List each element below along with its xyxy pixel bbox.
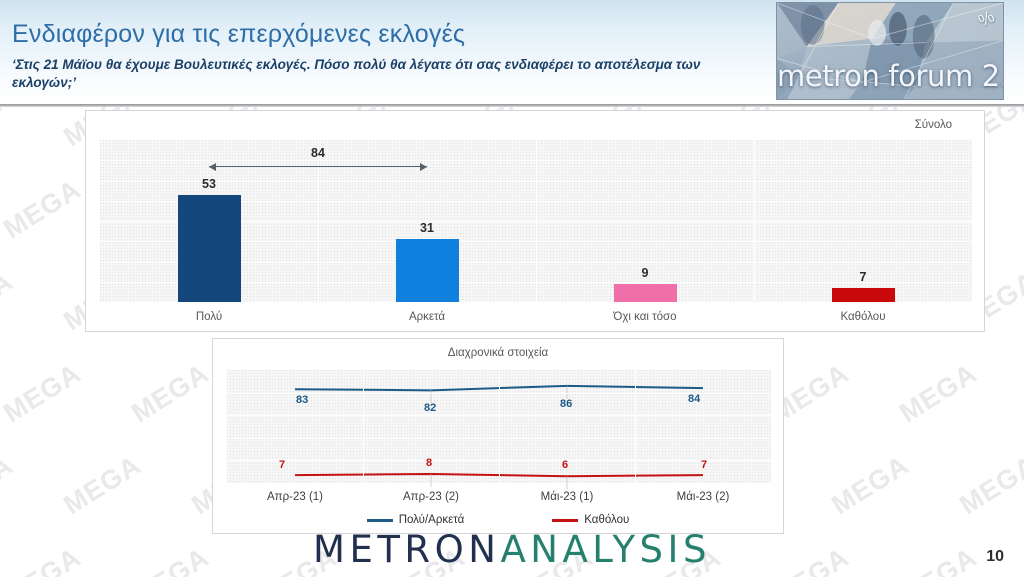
line-category-label: Μάι-23 (1) [497,491,637,503]
logo-analysis-text: ANALYSIS [500,528,711,571]
bar-category-label: Αρκετά [347,311,507,323]
bracket-total-label: 84 [278,146,358,160]
gridline-vertical [635,370,636,483]
question-text: ‘Στις 21 Μάϊου θα έχουμε Βουλευτικές εκλ… [12,56,752,92]
slide-header: Ενδιαφέρον για τις επερχόμενες εκλογές ‘… [0,0,1024,104]
bar-value-label: 7 [823,270,903,284]
bracket-line [209,166,427,167]
bar-chart-title: Σύνολο [915,119,952,131]
line-point-label: 82 [424,402,436,414]
line-point-label: 7 [279,459,285,471]
bar-0 [178,195,241,302]
bar-3 [832,288,895,302]
legend-label: Καθόλου [584,514,629,526]
line-category-label: Απρ-23 (2) [361,491,501,503]
gridline-vertical [536,140,537,302]
page-number: 10 [986,548,1004,566]
legend-label: Πολύ/Αρκετά [399,514,465,526]
watermark-text: MEGA [126,358,215,429]
line-chart-card: Διαχρονικά στοιχεία 838286847867Απρ-23 (… [212,338,784,534]
line-category-label: Απρ-23 (1) [225,491,365,503]
line-point-label: 6 [562,459,568,471]
watermark-text: MEGA [0,358,87,429]
legend-color-swatch [367,519,393,522]
legend-item-1[interactable]: Καθόλου [552,514,629,526]
gridline-vertical [318,140,319,302]
banner-title: metron forum 2.0 [777,59,1003,93]
gridline-vertical [363,370,364,483]
watermark-text: MEGA [826,450,915,521]
watermark-text: MEGA [58,450,147,521]
metron-forum-banner: % metron forum 2.0 [776,2,1004,100]
line-category-label: Μάι-23 (2) [633,491,773,503]
bar-value-label: 31 [387,221,467,235]
legend-item-0[interactable]: Πολύ/Αρκετά [367,514,465,526]
logo-metron-text: METRON [313,528,500,571]
bar-value-label: 53 [169,177,249,191]
line-point-label: 86 [560,398,572,410]
line-point-label: 7 [701,459,707,471]
line-chart-title: Διαχρονικά στοιχεία [213,347,783,359]
bar-category-label: Καθόλου [783,311,943,323]
bar-1 [396,239,459,302]
bar-value-label: 9 [605,266,685,280]
watermark-text: MEGA [954,450,1024,521]
arrow-right-icon [420,163,427,171]
line-point-label: 84 [688,393,700,405]
watermark-text: MEGA [894,358,983,429]
gridline-vertical [499,370,500,483]
watermark-text: MEGA [0,174,87,245]
line-point-label: 83 [296,394,308,406]
bar-2 [614,284,677,302]
metron-analysis-logo: METRONANALYSIS [0,528,1024,571]
bar-category-label: Πολύ [129,311,289,323]
arrow-left-icon [209,163,216,171]
header-divider [0,104,1024,107]
page-title: Ενδιαφέρον για τις επερχόμενες εκλογές [12,20,465,49]
watermark-text: MEGA [0,450,19,521]
bar-category-label: Όχι και τόσο [565,311,725,323]
line-point-label: 8 [426,457,432,469]
watermark-text: MEGA [0,266,19,337]
line-chart-plot-area [227,370,771,483]
bar-chart-card: Σύνολο 53Πολύ31Αρκετά9Όχι και τόσο7Καθόλ… [85,110,985,332]
legend-color-swatch [552,519,578,522]
gridline-vertical [754,140,755,302]
